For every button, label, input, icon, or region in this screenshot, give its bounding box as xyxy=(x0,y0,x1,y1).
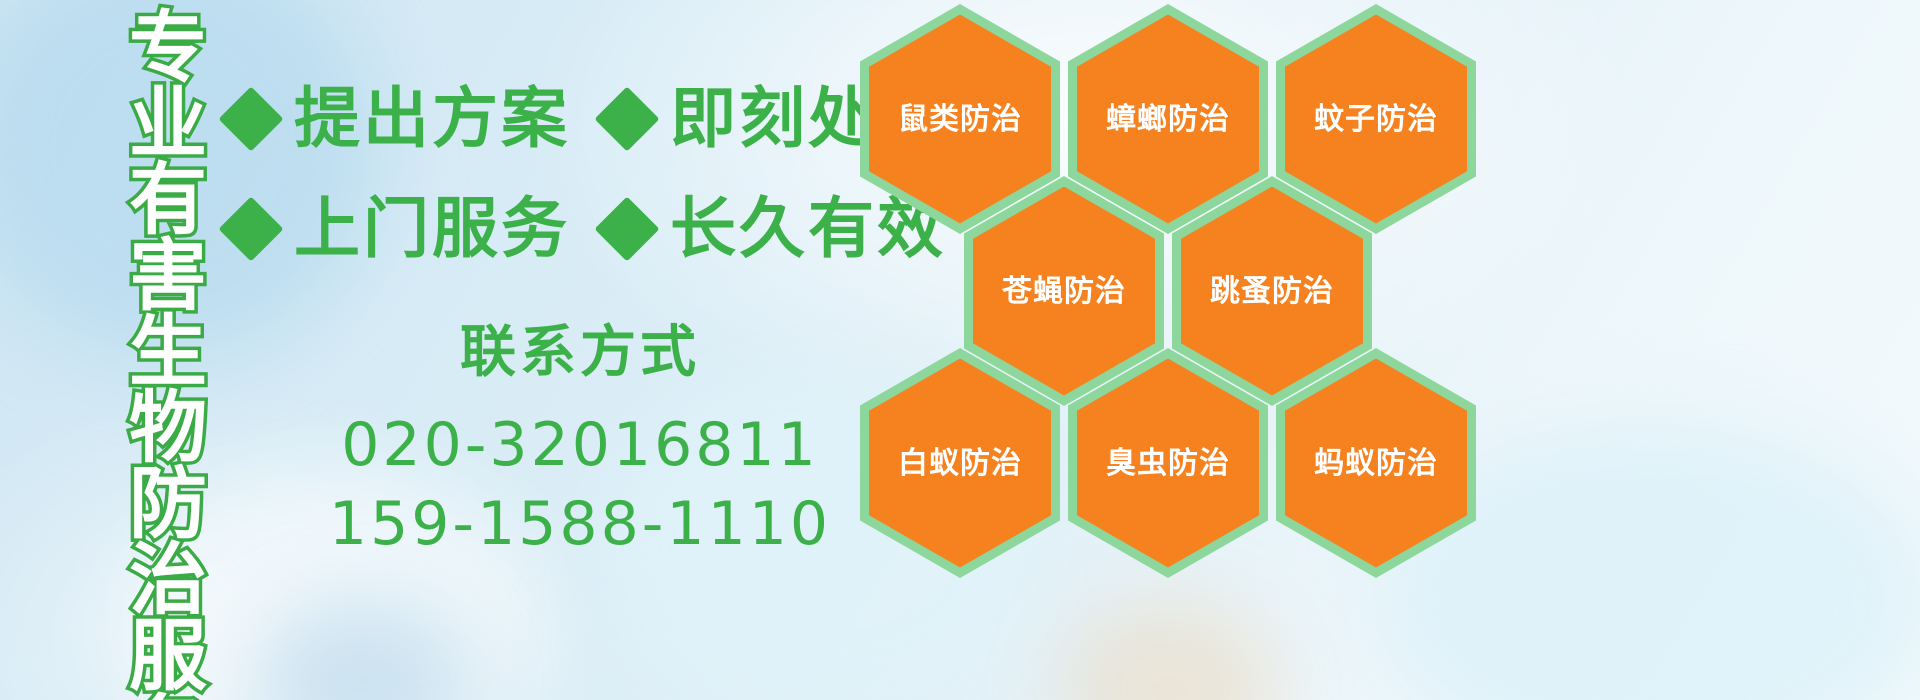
diamond-bullet-icon xyxy=(594,196,659,261)
pest-control-banner: 专业有害生物防治服务 提出方案 即刻处理 上门服务 长久有效 联系方式 020-… xyxy=(0,0,1920,700)
service-label: 蚊子防治 xyxy=(1314,103,1438,136)
diamond-bullet-icon xyxy=(218,196,283,261)
service-label: 跳蚤防治 xyxy=(1210,275,1334,308)
service-label: 臭虫防治 xyxy=(1106,447,1230,480)
service-label: 蚂蚁防治 xyxy=(1314,447,1438,480)
service-label: 苍蝇防治 xyxy=(1002,275,1126,308)
service-label: 鼠类防治 xyxy=(898,103,1022,136)
feature-row-2: 上门服务 长久有效 xyxy=(228,196,946,262)
feature-item: 上门服务 xyxy=(228,196,570,262)
vertical-headline: 专业有害生物防治服务 xyxy=(104,6,200,700)
feature-label: 上门服务 xyxy=(294,196,570,262)
service-label: 白蚁防治 xyxy=(898,447,1022,480)
phone-landline[interactable]: 020-32016811 xyxy=(300,406,860,485)
service-label: 蟑螂防治 xyxy=(1106,103,1230,136)
background-blob xyxy=(250,600,470,700)
contact-label: 联系方式 xyxy=(300,322,860,384)
hex-inner: 苍蝇防治 xyxy=(973,187,1155,396)
feature-label: 提出方案 xyxy=(294,86,570,152)
hex-inner: 白蚁防治 xyxy=(869,359,1051,568)
hex-inner: 跳蚤防治 xyxy=(1181,187,1363,396)
service-hex-grid: 鼠类防治 蟑螂防治 蚊子防治 苍蝇防治 跳蚤防治 白蚁防治 xyxy=(856,0,1476,542)
background-blob xyxy=(1060,600,1280,700)
hex-inner: 蚊子防治 xyxy=(1285,15,1467,224)
diamond-bullet-icon xyxy=(218,86,283,151)
diamond-bullet-icon xyxy=(594,86,659,151)
feature-item: 提出方案 xyxy=(228,86,570,152)
hex-inner: 蚂蚁防治 xyxy=(1285,359,1467,568)
feature-row-1: 提出方案 即刻处理 xyxy=(228,86,946,152)
hex-inner: 鼠类防治 xyxy=(869,15,1051,224)
hex-inner: 蟑螂防治 xyxy=(1077,15,1259,224)
hex-inner: 臭虫防治 xyxy=(1077,359,1259,568)
contact-block: 联系方式 020-32016811 159-1588-1110 xyxy=(300,322,860,564)
phone-mobile[interactable]: 159-1588-1110 xyxy=(300,485,860,564)
